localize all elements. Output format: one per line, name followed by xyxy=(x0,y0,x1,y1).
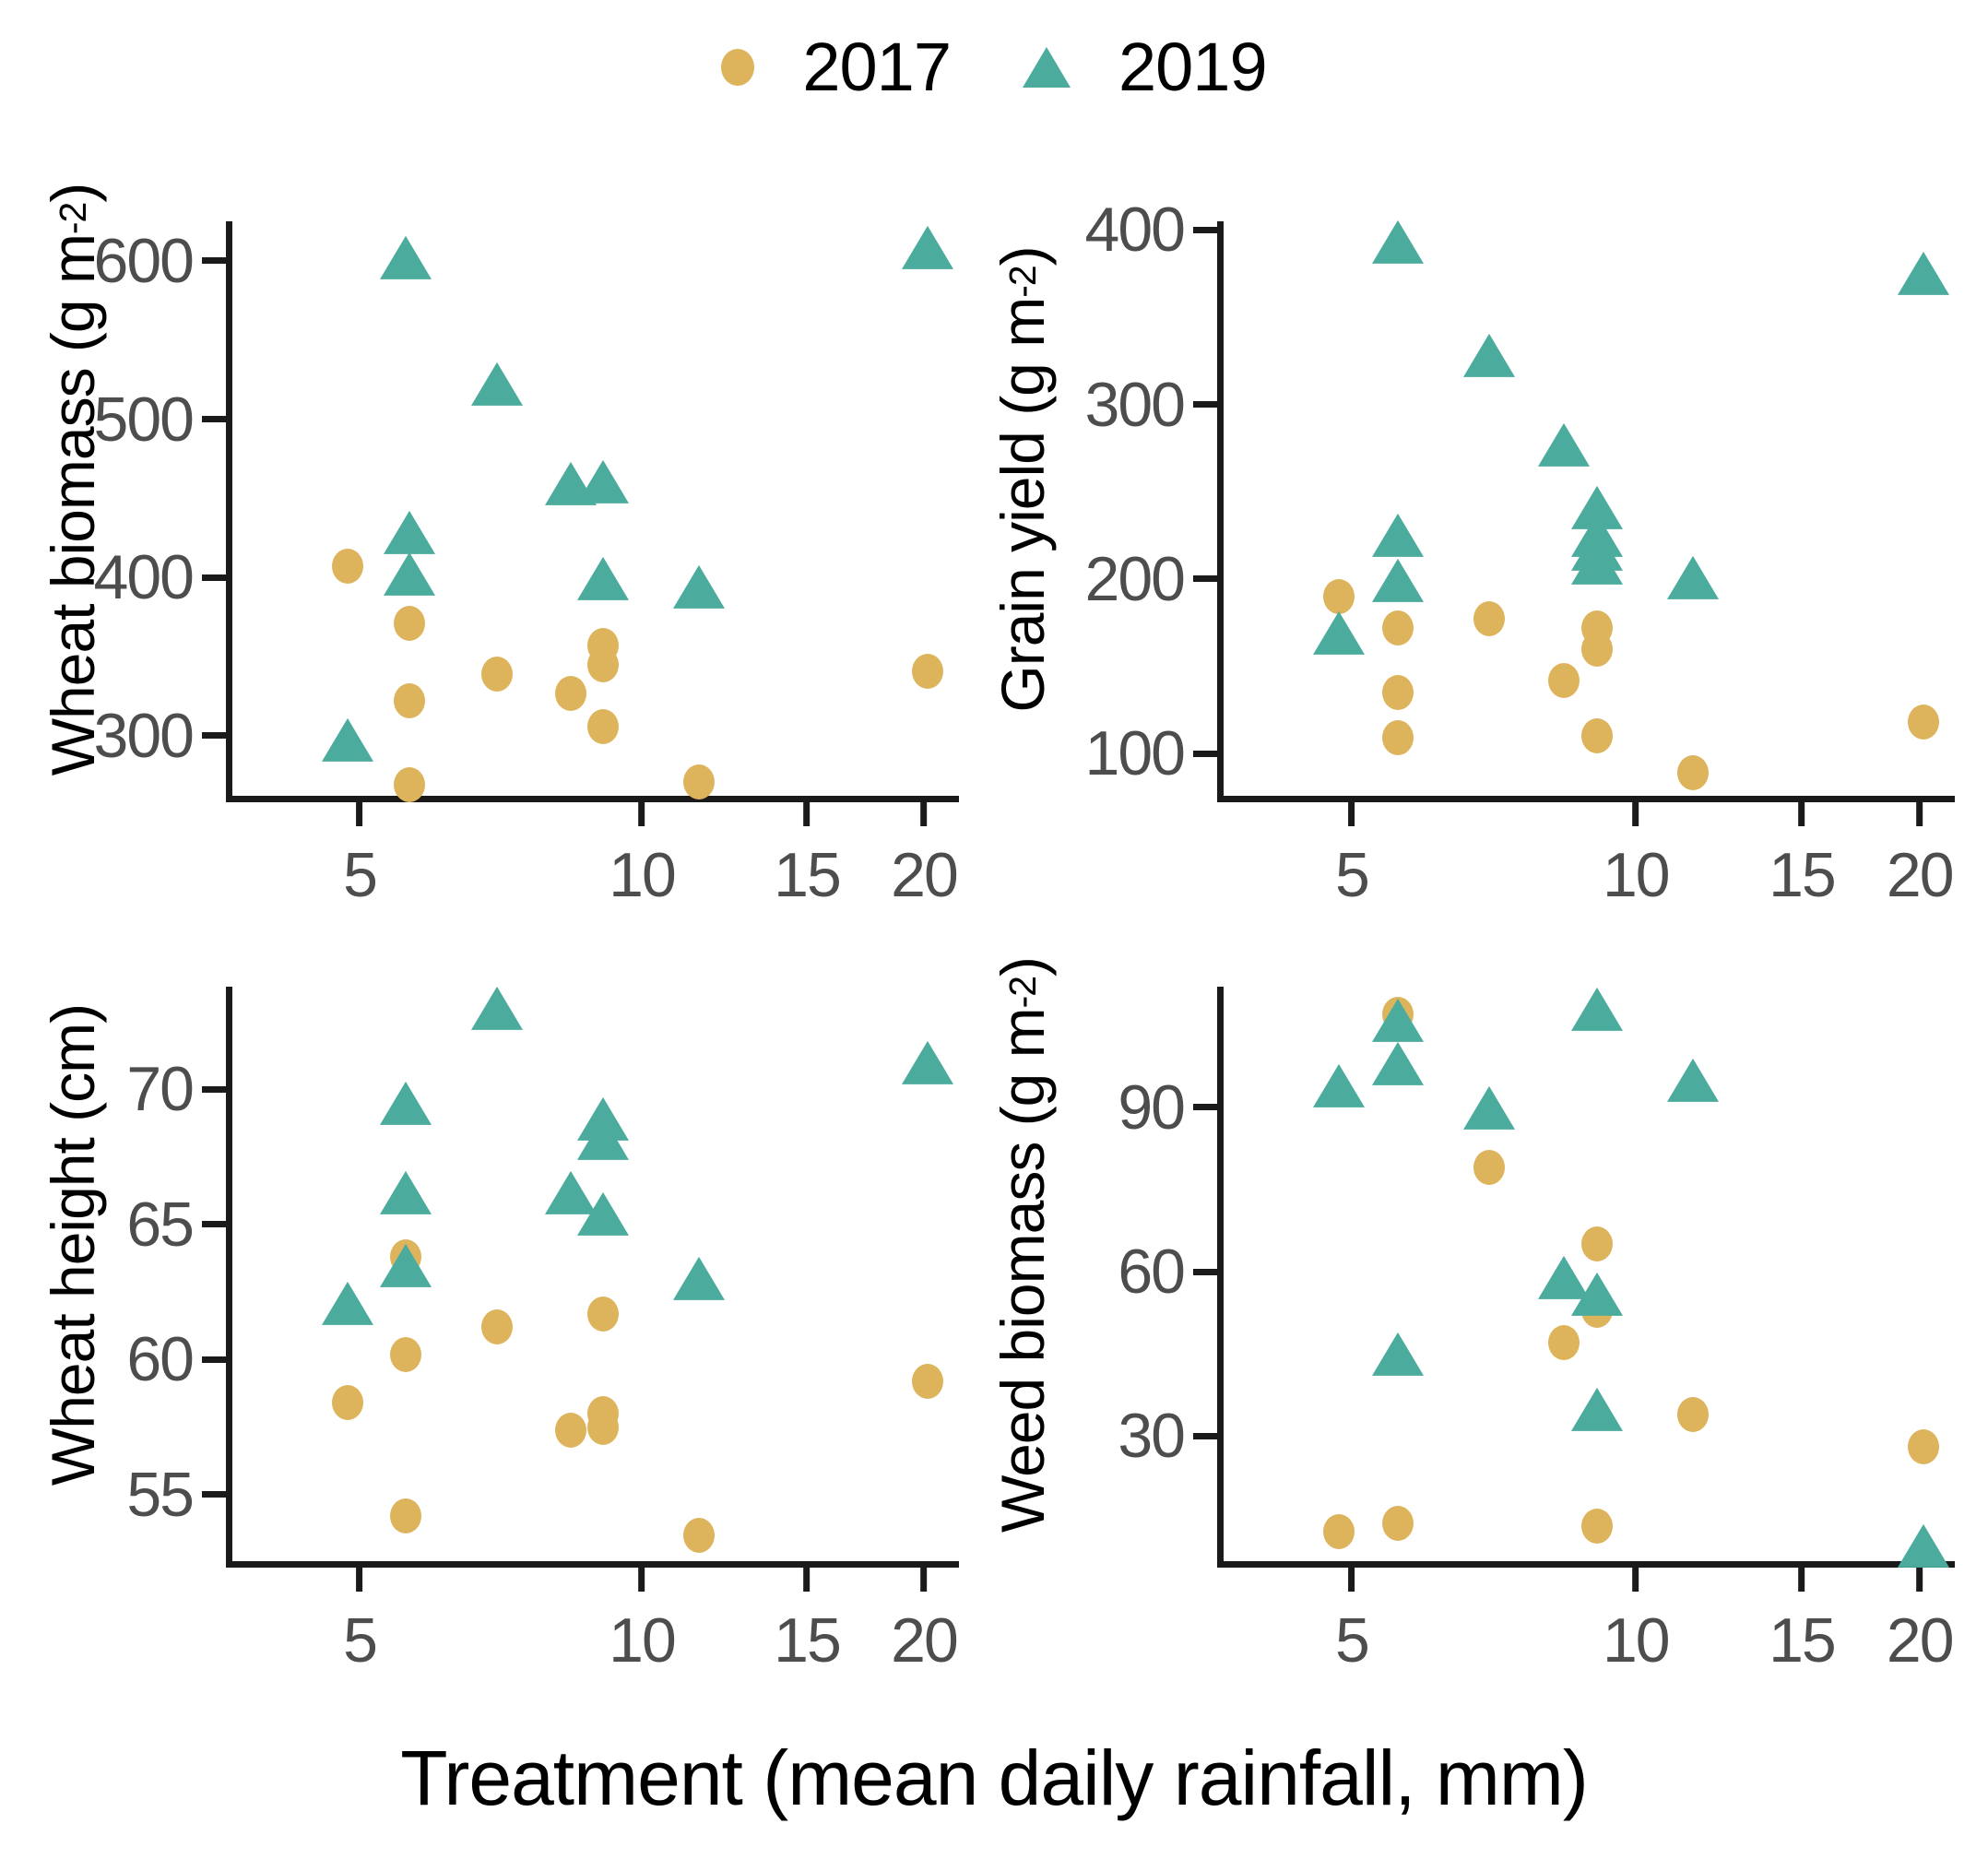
x-tick-mark xyxy=(638,1568,645,1592)
x-tick-mark xyxy=(803,1568,810,1592)
x-axis-line xyxy=(1217,796,1955,802)
x-tick-mark xyxy=(1916,802,1923,826)
y-tick-mark xyxy=(202,1491,226,1498)
x-tick: 5 xyxy=(343,1568,376,1676)
x-tick-mark xyxy=(1798,1568,1805,1592)
x-tick-mark xyxy=(1632,802,1639,826)
y-tick-label: 300 xyxy=(1085,369,1193,441)
data-point-2019 xyxy=(577,557,629,600)
y-axis-title-text: Wheat biomass (g m xyxy=(38,234,108,776)
data-point-2017 xyxy=(390,1498,421,1534)
data-point-2019 xyxy=(1313,611,1365,655)
data-point-2017 xyxy=(912,654,943,689)
x-axis-title: Treatment (mean daily rainfall, mm) xyxy=(0,1734,1988,1823)
y-tick-label: 65 xyxy=(126,1189,202,1261)
y-axis-title-text: Weed biomass (g m xyxy=(988,1008,1058,1533)
circle-marker-icon xyxy=(721,49,754,86)
x-axis-line xyxy=(226,1561,959,1568)
x-tick-mark xyxy=(1916,1568,1923,1592)
data-point-2017 xyxy=(394,767,425,802)
data-point-2017 xyxy=(587,1297,619,1332)
data-point-2017 xyxy=(1323,579,1355,614)
data-point-2017 xyxy=(1677,1397,1709,1432)
y-tick-mark xyxy=(202,1086,226,1093)
y-tick-mark xyxy=(202,1356,226,1363)
data-point-2017 xyxy=(1581,718,1613,753)
x-tick: 10 xyxy=(609,1568,675,1676)
y-tick-label: 300 xyxy=(94,700,202,772)
data-point-2019 xyxy=(384,511,435,554)
x-tick-label: 10 xyxy=(1603,1605,1669,1676)
x-tick: 10 xyxy=(1603,1568,1669,1676)
plot-area-grain-yield: 1002003004005101520 xyxy=(1217,221,1955,802)
data-point-2019 xyxy=(1372,514,1424,557)
data-point-2017 xyxy=(1581,1509,1613,1544)
x-tick-mark xyxy=(920,802,927,826)
y-tick-label: 60 xyxy=(1118,1236,1193,1308)
data-point-2019 xyxy=(1667,1059,1719,1102)
data-point-2017 xyxy=(683,1518,715,1553)
data-point-2019 xyxy=(1372,220,1424,264)
y-tick-label: 55 xyxy=(126,1459,202,1531)
data-point-2017 xyxy=(587,647,619,682)
data-point-2017 xyxy=(390,1337,421,1372)
x-tick-mark xyxy=(356,802,362,826)
y-tick-mark xyxy=(1193,1433,1217,1439)
y-axis-line xyxy=(226,987,232,1568)
data-point-2017 xyxy=(555,676,586,711)
legend-label-2017: 2017 xyxy=(802,33,951,101)
y-tick-mark xyxy=(1193,751,1217,757)
data-point-2017 xyxy=(683,764,715,799)
x-axis-line xyxy=(226,796,959,802)
data-point-2019 xyxy=(471,362,523,406)
x-tick-mark xyxy=(1798,802,1805,826)
triangle-marker-icon xyxy=(1023,47,1071,88)
data-point-2017 xyxy=(481,657,513,692)
y-tick-label: 400 xyxy=(1085,194,1193,266)
y-axis-title-text: Wheat height (cm) xyxy=(38,1004,108,1486)
data-point-2017 xyxy=(1382,1506,1414,1541)
plot-area-wheat-height: 556065705101520 xyxy=(226,987,959,1568)
y-axis-title-suffix: ) xyxy=(988,957,1058,977)
y-tick-label: 30 xyxy=(1118,1400,1193,1472)
data-point-2017 xyxy=(332,549,363,584)
x-tick: 20 xyxy=(891,1568,957,1676)
data-point-2019 xyxy=(380,1082,432,1125)
x-tick-label: 10 xyxy=(1603,839,1669,911)
x-tick-label: 5 xyxy=(1335,839,1368,911)
x-tick: 10 xyxy=(609,802,675,911)
x-tick-mark xyxy=(1348,802,1355,826)
x-tick-mark xyxy=(1632,1568,1639,1592)
plot-area-wheat-biomass: 3004005006005101520 xyxy=(226,221,959,802)
data-point-2017 xyxy=(555,1413,586,1448)
data-point-2019 xyxy=(673,565,725,609)
x-tick-label: 15 xyxy=(1769,839,1835,911)
data-point-2017 xyxy=(1908,705,1939,740)
data-point-2019 xyxy=(673,1257,725,1300)
y-axis-title-grain-yield: Grain yield (g m-2) xyxy=(987,194,1059,765)
data-point-2017 xyxy=(1382,720,1414,755)
y-axis-line xyxy=(226,221,232,802)
y-tick-mark xyxy=(202,1221,226,1227)
y-tick-mark xyxy=(202,732,226,739)
data-point-2019 xyxy=(471,987,523,1030)
y-axis-title-exponent: -2 xyxy=(52,203,95,234)
data-point-2019 xyxy=(1372,998,1424,1041)
data-point-2017 xyxy=(481,1309,513,1344)
legend-entry-2017: 2017 xyxy=(721,33,951,101)
x-tick-label: 20 xyxy=(1887,1605,1953,1676)
data-point-2019 xyxy=(380,1170,432,1214)
data-point-2017 xyxy=(332,1385,363,1420)
x-tick: 15 xyxy=(1769,1568,1835,1676)
x-tick-label: 15 xyxy=(774,1605,840,1676)
y-axis-title-suffix: ) xyxy=(38,184,108,203)
data-point-2017 xyxy=(912,1364,943,1399)
data-point-2017 xyxy=(587,709,619,744)
data-point-2019 xyxy=(1898,252,1949,295)
data-point-2017 xyxy=(394,683,425,718)
y-axis-title-exponent: -2 xyxy=(1001,266,1045,297)
data-point-2017 xyxy=(1323,1514,1355,1549)
y-axis-line xyxy=(1217,987,1224,1568)
y-axis-line xyxy=(1217,221,1224,802)
data-point-2019 xyxy=(1372,559,1424,602)
data-point-2017 xyxy=(1382,610,1414,645)
panel-grid: Wheat biomass (g m-2) 300400500600510152… xyxy=(0,138,1988,1734)
x-tick: 15 xyxy=(774,802,840,911)
y-axis-title-suffix: ) xyxy=(988,246,1058,266)
x-tick: 20 xyxy=(1887,802,1953,911)
data-point-2019 xyxy=(1571,1273,1623,1316)
x-tick-label: 15 xyxy=(774,839,840,911)
x-tick: 10 xyxy=(1603,802,1669,911)
x-tick: 20 xyxy=(1887,1568,1953,1676)
x-tick: 5 xyxy=(1335,802,1368,911)
y-tick-label: 60 xyxy=(126,1323,202,1395)
data-point-2019 xyxy=(1313,1064,1365,1107)
x-tick-mark xyxy=(638,802,645,826)
y-tick-label: 500 xyxy=(94,384,202,456)
y-tick-mark xyxy=(1193,227,1217,233)
x-tick-label: 5 xyxy=(1335,1605,1368,1676)
data-point-2019 xyxy=(384,552,435,596)
y-tick-mark xyxy=(202,257,226,264)
x-tick: 5 xyxy=(343,802,376,911)
data-point-2019 xyxy=(902,226,953,269)
x-tick-label: 15 xyxy=(1769,1605,1835,1676)
x-tick-label: 20 xyxy=(891,1605,957,1676)
y-tick-mark xyxy=(202,574,226,581)
x-tick-label: 5 xyxy=(343,839,376,911)
y-tick-mark xyxy=(1193,575,1217,582)
x-tick-mark xyxy=(356,1568,362,1592)
x-tick: 20 xyxy=(891,802,957,911)
y-tick-label: 200 xyxy=(1085,543,1193,615)
x-tick: 15 xyxy=(1769,802,1835,911)
x-tick: 15 xyxy=(774,1568,840,1676)
data-point-2019 xyxy=(322,718,373,762)
y-axis-title-text: Grain yield (g m xyxy=(988,298,1058,713)
data-point-2019 xyxy=(1463,334,1515,377)
data-point-2019 xyxy=(902,1041,953,1084)
y-tick-label: 600 xyxy=(94,225,202,297)
x-tick-mark xyxy=(803,802,810,826)
data-point-2017 xyxy=(394,606,425,641)
y-tick-label: 100 xyxy=(1085,717,1193,789)
x-tick-label: 20 xyxy=(1887,839,1953,911)
data-point-2019 xyxy=(577,1117,629,1160)
x-tick-label: 10 xyxy=(609,839,675,911)
chart-legend: 2017 2019 xyxy=(0,17,1988,118)
y-tick-mark xyxy=(202,416,226,422)
data-point-2019 xyxy=(1898,1524,1949,1568)
x-tick-mark xyxy=(920,1568,927,1592)
data-point-2017 xyxy=(1581,632,1613,667)
y-tick-label: 70 xyxy=(126,1053,202,1125)
data-point-2019 xyxy=(1538,423,1590,467)
y-tick-label: 90 xyxy=(1118,1072,1193,1143)
data-point-2017 xyxy=(1908,1429,1939,1464)
x-tick-mark xyxy=(1348,1568,1355,1592)
data-point-2019 xyxy=(380,1244,432,1287)
x-tick-label: 5 xyxy=(343,1605,376,1676)
data-point-2019 xyxy=(1372,1332,1424,1376)
data-point-2019 xyxy=(1571,1387,1623,1430)
x-tick-label: 10 xyxy=(609,1605,675,1676)
data-point-2019 xyxy=(1571,988,1623,1031)
data-point-2017 xyxy=(1548,663,1580,698)
legend-label-2019: 2019 xyxy=(1118,33,1267,101)
data-point-2017 xyxy=(1548,1325,1580,1360)
data-point-2019 xyxy=(1667,555,1719,598)
data-point-2019 xyxy=(577,1192,629,1236)
y-tick-mark xyxy=(1193,1269,1217,1275)
x-tick: 5 xyxy=(1335,1568,1368,1676)
data-point-2017 xyxy=(1382,675,1414,710)
panel-wheat-biomass: Wheat biomass (g m-2) 300400500600510152… xyxy=(37,194,968,941)
x-axis-line xyxy=(1217,1561,1955,1568)
data-point-2019 xyxy=(1463,1086,1515,1130)
data-point-2017 xyxy=(1677,755,1709,790)
plot-area-weed-biomass: 3060905101520 xyxy=(1217,987,1955,1568)
data-point-2019 xyxy=(380,235,432,278)
data-point-2019 xyxy=(1571,541,1623,585)
y-axis-title-weed-biomass: Weed biomass (g m-2) xyxy=(987,959,1059,1531)
y-tick-label: 400 xyxy=(94,541,202,613)
legend-entry-2019: 2019 xyxy=(1023,33,1267,101)
panel-grain-yield: Grain yield (g m-2) 1002003004005101520 xyxy=(987,194,1964,941)
y-axis-title-exponent: -2 xyxy=(1001,977,1045,1008)
data-point-2019 xyxy=(577,460,629,503)
data-point-2019 xyxy=(322,1282,373,1325)
y-tick-mark xyxy=(1193,1104,1217,1110)
data-point-2017 xyxy=(587,1410,619,1445)
panel-wheat-height: Wheat height (cm) 556065705101520 xyxy=(37,959,968,1706)
y-axis-title-wheat-height: Wheat height (cm) xyxy=(37,959,109,1531)
data-point-2019 xyxy=(1372,1042,1424,1085)
y-tick-mark xyxy=(1193,401,1217,408)
data-point-2017 xyxy=(1473,1150,1505,1185)
data-point-2017 xyxy=(1473,601,1505,636)
panel-weed-biomass: Weed biomass (g m-2) 3060905101520 xyxy=(987,959,1964,1706)
x-tick-label: 20 xyxy=(891,839,957,911)
